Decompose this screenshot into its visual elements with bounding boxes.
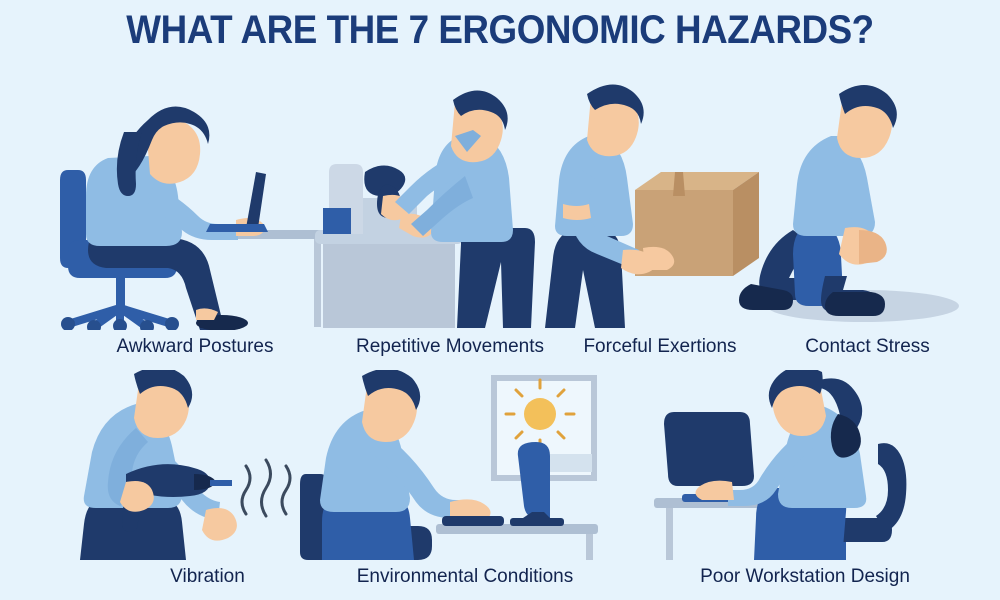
woman-hunched-at-laptop-icon	[50, 80, 340, 330]
hazard-label: Environmental Conditions	[300, 566, 630, 588]
vibration-waves-icon	[242, 460, 290, 516]
infographic-poster: WHAT ARE THE 7 ERGONOMIC HAZARDS?	[0, 0, 1000, 600]
woman-hunched-at-monitor-icon	[640, 370, 970, 560]
man-at-monitor-with-sunny-window-icon	[300, 370, 630, 560]
hazard-card-contact-stress: Contact Stress	[735, 80, 1000, 370]
hazard-label: Poor Workstation Design	[640, 566, 970, 588]
sun-icon	[524, 398, 556, 430]
man-kneeling-on-knee-icon	[735, 80, 1000, 330]
hazard-label: Awkward Postures	[50, 336, 340, 358]
hazard-card-poor-workstation-design: Poor Workstation Design	[640, 370, 970, 595]
hazard-card-awkward-postures: Awkward Postures	[50, 80, 340, 370]
hazard-card-environmental-conditions: Environmental Conditions	[300, 370, 630, 595]
hazard-label: Contact Stress	[735, 336, 1000, 358]
page-title: WHAT ARE THE 7 ERGONOMIC HAZARDS?	[40, 8, 960, 53]
